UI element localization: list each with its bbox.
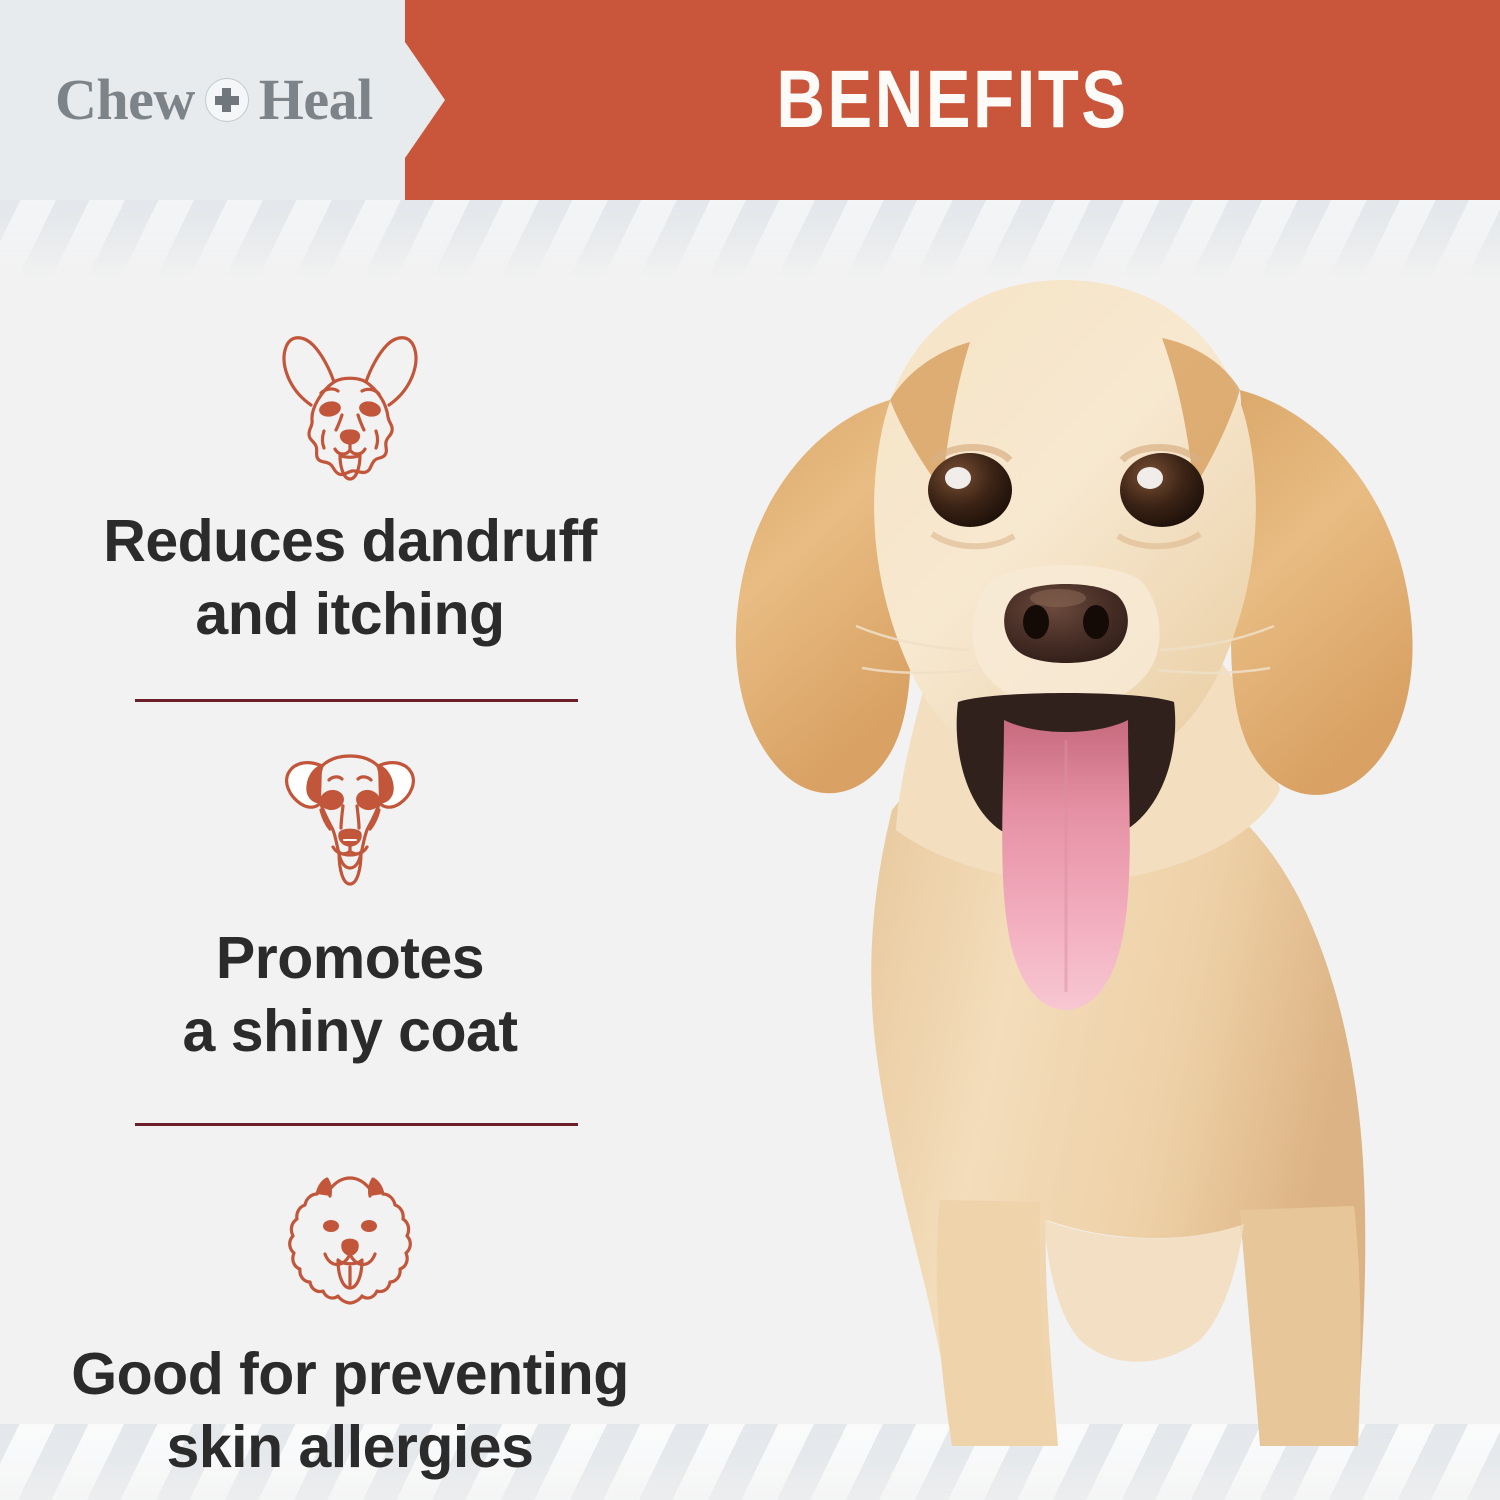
page-title: BENEFITS [504, 50, 1402, 150]
yellow-labrador-puppy-photo [640, 250, 1500, 1450]
dog-head [874, 280, 1256, 780]
dog-tongue [1002, 720, 1130, 1010]
benefit-line-2: and itching [195, 581, 504, 647]
header-bar: Chew Heal BENEFITS [0, 0, 1500, 200]
dog-undereye-right [1118, 534, 1200, 546]
dog-muzzle [972, 565, 1159, 712]
medical-plus-icon [205, 78, 249, 122]
benefit-line-2: skin allergies [167, 1414, 534, 1480]
dog-eye-right [1120, 453, 1204, 527]
dog-ear-root-left [890, 342, 970, 490]
top-diagonal-stripe-band [0, 200, 1500, 278]
dog-eye-highlight-left [945, 467, 971, 489]
dog-body [871, 742, 1365, 1446]
logo-word-heal: Heal [259, 68, 373, 132]
dog-front-leg-right [1240, 1206, 1361, 1446]
dog-ear-root-right [1162, 338, 1240, 488]
dog-nostril-right [1083, 605, 1109, 639]
benefit-text-skin-allergies: Good for preventing skin allergies [30, 1338, 670, 1484]
dog-ear-left [736, 400, 911, 793]
benefit-divider-1 [135, 699, 578, 702]
benefit-divider-2 [135, 1123, 578, 1126]
benefit-line-1: Reduces dandruff [103, 508, 597, 574]
dog-eye-highlight-right [1137, 467, 1163, 489]
benefit-item-shiny-coat: Promotes a shiny coat [0, 748, 700, 1125]
benefit-item-dandruff: Reduces dandruff and itching [0, 327, 700, 702]
dog-undereye-left [932, 534, 1014, 546]
dog-neck [896, 650, 1280, 881]
benefit-line-1: Good for preventing [71, 1341, 629, 1407]
dog-nose [1004, 584, 1128, 663]
dog-belly [1044, 1220, 1244, 1362]
pomeranian-dog-face-icon [267, 1172, 433, 1310]
dog-eye-left [928, 453, 1012, 527]
dog-brow-left [932, 447, 1010, 462]
dog-open-mouth [957, 693, 1176, 847]
dog-front-leg-left [937, 1200, 1052, 1446]
benefit-text-shiny-coat: Promotes a shiny coat [30, 922, 670, 1068]
benefits-list: Reduces dandruff and itching [0, 305, 700, 1484]
dog-nose-highlight [1030, 589, 1086, 607]
benefit-line-2: a shiny coat [182, 998, 517, 1064]
benefit-line-1: Promotes [216, 925, 484, 991]
benefit-text-dandruff: Reduces dandruff and itching [30, 505, 670, 651]
dog-whiskers [856, 626, 1274, 673]
brand-logo: Chew Heal [55, 68, 373, 132]
dog-nostril-left [1023, 605, 1049, 639]
dog-ear-right [1231, 390, 1413, 795]
dog-brow-right [1122, 447, 1200, 462]
logo-word-chew: Chew [55, 68, 195, 132]
corgi-dog-face-icon [264, 327, 436, 481]
benefit-item-skin-allergies: Good for preventing skin allergies [0, 1172, 700, 1484]
terrier-dog-face-icon [269, 748, 431, 888]
benefits-infographic: Chew Heal BENEFITS [0, 0, 1500, 1500]
